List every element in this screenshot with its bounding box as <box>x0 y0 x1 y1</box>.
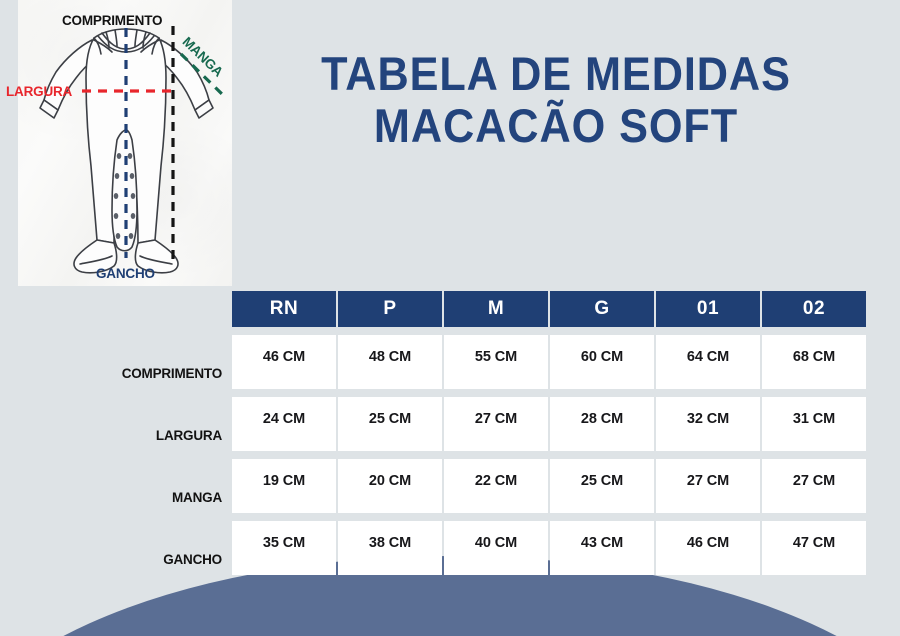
cell-gancho-01: 46 CM <box>656 521 760 575</box>
cell-gancho-02: 47 CM <box>762 521 866 575</box>
row-label-comprimento: COMPRIMENTO <box>0 335 232 389</box>
cell-manga-g: 25 CM <box>550 459 654 513</box>
cell-largura-m: 27 CM <box>444 397 548 451</box>
cell-largura-rn: 24 CM <box>232 397 336 451</box>
diagram-label-largura: LARGURA <box>6 84 72 99</box>
cell-manga-rn: 19 CM <box>232 459 336 513</box>
diagram-label-comprimento: COMPRIMENTO <box>62 13 162 28</box>
cell-comprimento-g: 60 CM <box>550 335 654 389</box>
column-header-4: 01 <box>656 291 760 327</box>
cell-gancho-p: 38 CM <box>338 521 442 575</box>
cell-comprimento-p: 48 CM <box>338 335 442 389</box>
row-label-gancho: GANCHO <box>0 521 232 575</box>
table-row: GANCHO 35 CM 38 CM 40 CM 43 CM 46 CM 47 … <box>0 521 900 575</box>
column-header-0: RN <box>232 291 336 327</box>
size-chart-page: COMPRIMENTO LARGURA MANGA GANCHO TABELA … <box>0 0 900 636</box>
row-label-corner <box>0 291 232 327</box>
cell-comprimento-02: 68 CM <box>762 335 866 389</box>
cell-largura-g: 28 CM <box>550 397 654 451</box>
cell-gancho-m: 40 CM <box>444 521 548 575</box>
cell-gancho-g: 43 CM <box>550 521 654 575</box>
cell-manga-m: 22 CM <box>444 459 548 513</box>
title-line-2: MACACÃO SOFT <box>258 100 854 152</box>
cell-largura-01: 32 CM <box>656 397 760 451</box>
cell-manga-02: 27 CM <box>762 459 866 513</box>
measurements-table: RN P M G 01 02 COMPRIMENTO 46 CM 48 CM 5… <box>0 291 900 583</box>
table-row: MANGA 19 CM 20 CM 22 CM 25 CM 27 CM 27 C… <box>0 459 900 513</box>
page-title: TABELA DE MEDIDAS MACACÃO SOFT <box>232 48 880 152</box>
title-line-1: TABELA DE MEDIDAS <box>258 48 854 100</box>
column-header-2: M <box>444 291 548 327</box>
table-row: LARGURA 24 CM 25 CM 27 CM 28 CM 32 CM 31… <box>0 397 900 451</box>
table-header-row: RN P M G 01 02 <box>0 291 900 327</box>
column-header-3: G <box>550 291 654 327</box>
cell-manga-01: 27 CM <box>656 459 760 513</box>
diagram-label-gancho: GANCHO <box>96 266 155 281</box>
cell-comprimento-01: 64 CM <box>656 335 760 389</box>
table-row: COMPRIMENTO 46 CM 48 CM 55 CM 60 CM 64 C… <box>0 335 900 389</box>
cell-gancho-rn: 35 CM <box>232 521 336 575</box>
cell-comprimento-rn: 46 CM <box>232 335 336 389</box>
column-header-5: 02 <box>762 291 866 327</box>
row-label-largura: LARGURA <box>0 397 232 451</box>
cell-largura-02: 31 CM <box>762 397 866 451</box>
cell-comprimento-m: 55 CM <box>444 335 548 389</box>
row-label-manga: MANGA <box>0 459 232 513</box>
cell-largura-p: 25 CM <box>338 397 442 451</box>
cell-manga-p: 20 CM <box>338 459 442 513</box>
column-header-1: P <box>338 291 442 327</box>
